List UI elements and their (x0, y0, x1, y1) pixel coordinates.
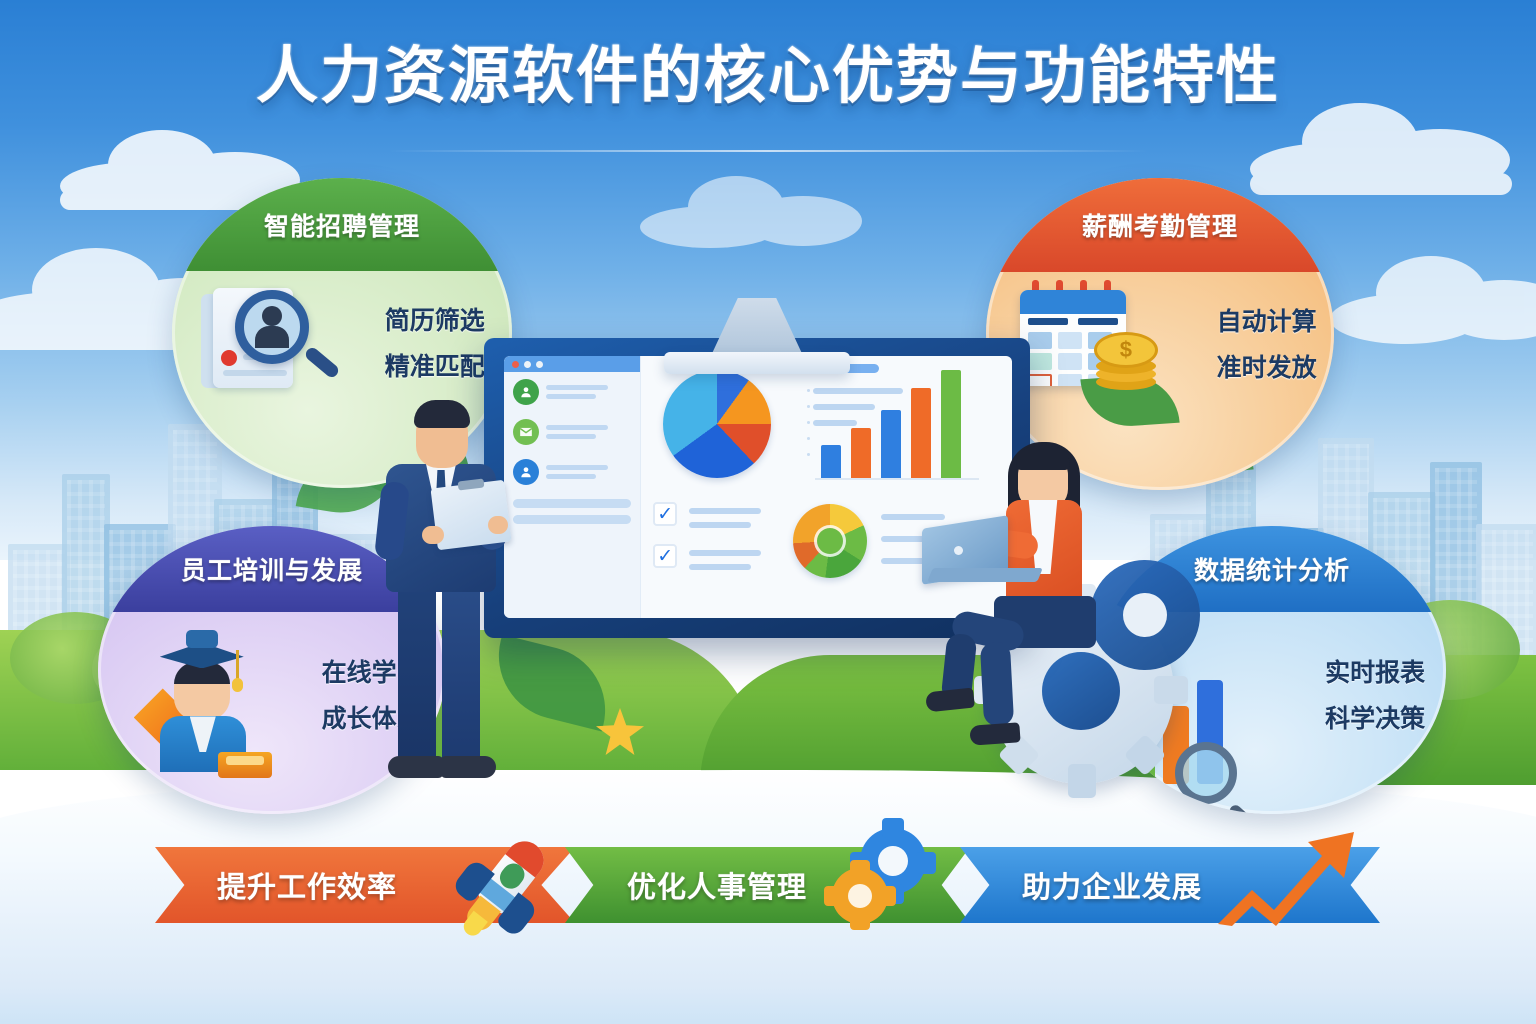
chart-axis-dot (807, 453, 810, 456)
check-icon[interactable]: ✓ (653, 544, 677, 568)
check-icon[interactable]: ✓ (653, 502, 677, 526)
sidebar-footer-bar (513, 499, 631, 508)
list-item-lines (546, 385, 608, 399)
badge-analytics-line-1: 实时报表 (1325, 653, 1425, 689)
badge-recruit-header: 智能招聘管理 (172, 178, 512, 271)
donut-chart[interactable] (793, 504, 867, 578)
donut-chart-center (817, 528, 843, 554)
badge-analytics-title: 数据统计分析 (1194, 551, 1350, 587)
calendar-coins-icon: $ (1014, 280, 1195, 463)
page-title: 人力资源软件的核心优势与功能特性 (256, 44, 1280, 111)
badge-payroll-header: 薪酬考勤管理 (986, 178, 1334, 272)
pie-chart-disc (663, 370, 771, 478)
graduate-icon (140, 624, 307, 797)
ribbon-growth-label: 助力企业发展 (960, 864, 1202, 906)
sidebar-footer-bar (513, 515, 631, 524)
ribbon-efficiency-label: 提升工作效率 (155, 864, 397, 906)
window-minimize-dot[interactable] (524, 361, 531, 368)
badge-analytics-line-2: 科学决策 (1325, 699, 1425, 735)
bar-chart-bar (821, 445, 841, 478)
badge-recruit-line-2: 精准匹配 (385, 347, 485, 383)
chart-axis-dot (807, 437, 810, 440)
window-titlebar (504, 356, 640, 372)
badge-recruit-lines: 简历筛选 精准匹配 (385, 301, 485, 383)
badge-recruit-title: 智能招聘管理 (264, 207, 420, 243)
ribbon-hr-label: 优化人事管理 (565, 864, 807, 906)
checklist-line (689, 508, 761, 514)
checklist-line (689, 522, 751, 528)
chart-axis-dot (807, 421, 810, 424)
badge-training-title: 员工培训与发展 (181, 551, 363, 587)
title-divider (388, 150, 1148, 152)
badge-analytics-lines: 实时报表 科学决策 (1325, 653, 1425, 735)
window-maximize-dot[interactable] (536, 361, 543, 368)
badge-recruit-line-1: 简历筛选 (385, 301, 485, 337)
chart-axis-dot (807, 405, 810, 408)
list-item-lines (546, 425, 608, 439)
badge-payroll-line-2: 准时发放 (1217, 348, 1317, 384)
resume-magnifier-icon (199, 284, 355, 453)
badge-payroll-line-1: 自动计算 (1217, 302, 1317, 338)
bar-chart-bar (881, 410, 901, 478)
checklist-line (689, 564, 751, 570)
poster-title-wrapper: 人力资源软件的核心优势与功能特性 (0, 44, 1536, 111)
checklist-line (689, 550, 761, 556)
businesswoman-figure (930, 438, 1120, 786)
monitor-base (664, 352, 850, 374)
list-item-lines (546, 465, 608, 479)
gears-icon (832, 828, 942, 928)
bar-chart-bar (851, 428, 871, 478)
badge-payroll-lines: 自动计算 准时发放 (1217, 302, 1317, 384)
growth-arrow-icon (1212, 822, 1360, 932)
businessman-figure (370, 386, 530, 798)
bar-chart-bar (911, 388, 931, 478)
chart-axis-dot (807, 389, 810, 392)
window-close-dot[interactable] (512, 361, 519, 368)
pie-chart[interactable] (663, 370, 771, 478)
poster-canvas: 人力资源软件的核心优势与功能特性 智能招聘管理 (0, 0, 1536, 1024)
badge-payroll-title: 薪酬考勤管理 (1082, 207, 1238, 243)
